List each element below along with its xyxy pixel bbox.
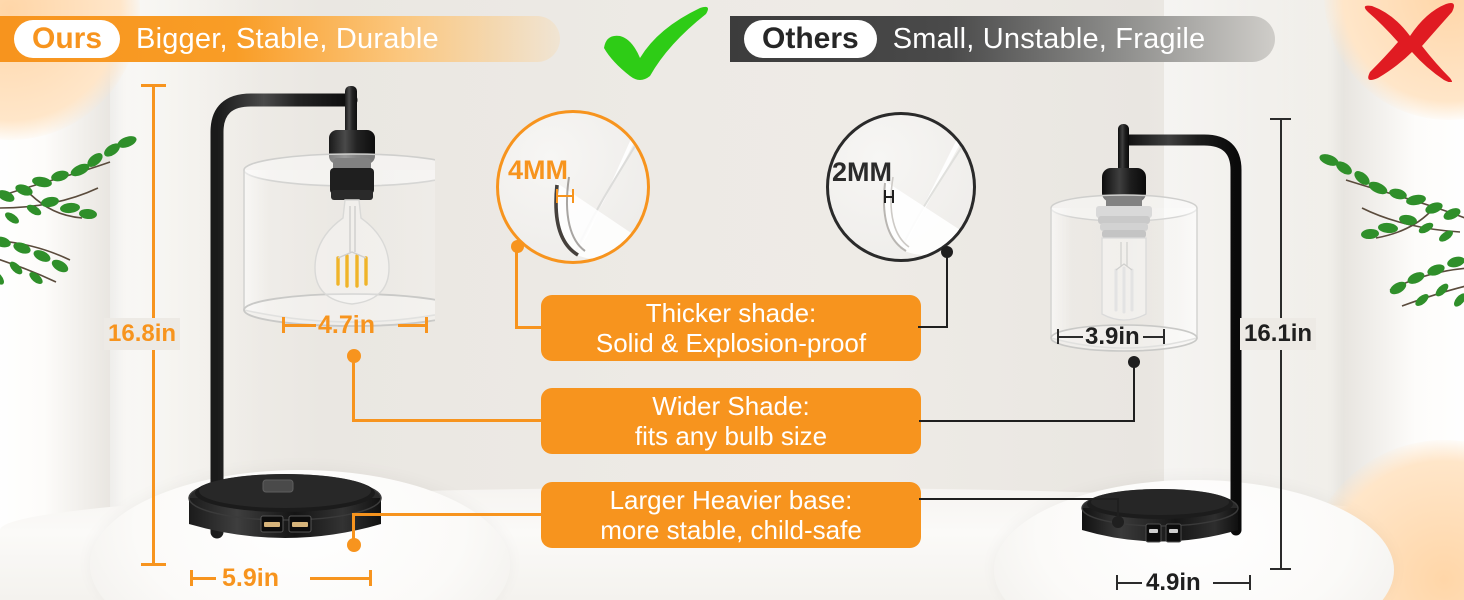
callout-thicker-shade[interactable]: Thicker shade: Solid & Explosion-proof: [541, 295, 921, 361]
others-height-cap-bottom: [1270, 568, 1291, 570]
others-connector-h-shade: [919, 420, 1135, 422]
others-shade-width-label: 3.9in: [1085, 323, 1140, 351]
callout-wider-shade[interactable]: Wider Shade: fits any bulb size: [541, 388, 921, 454]
ours-shade-width-cap-left: [282, 317, 285, 333]
ours-base-width-label: 5.9in: [222, 564, 279, 593]
ours-connector-v-base: [352, 513, 355, 545]
others-base-width-cap-left: [1116, 575, 1118, 590]
ours-height-cap-bottom: [141, 563, 166, 566]
ours-thickness-tick-right: [572, 189, 574, 203]
others-thickness-tick-right: [892, 190, 894, 203]
others-shade-width-line-left: [1057, 336, 1083, 338]
callout-2-line1: Wider Shade:: [551, 391, 911, 421]
others-shade-width-line-right: [1143, 336, 1165, 338]
callout-larger-base[interactable]: Larger Heavier base: more stable, child-…: [541, 482, 921, 548]
others-base-width-label: 4.9in: [1146, 569, 1201, 597]
callout-1-line2: Solid & Explosion-proof: [551, 328, 911, 358]
ours-banner-text: Bigger, Stable, Durable: [136, 23, 439, 56]
callout-3-line2: more stable, child-safe: [551, 515, 911, 545]
others-base-width-line-left: [1116, 582, 1142, 584]
red-cross-icon: [1356, 2, 1460, 82]
others-shade-width-cap-left: [1057, 329, 1059, 344]
others-thickness-label: 2MM: [832, 157, 892, 188]
others-height-label: 16.1in: [1240, 318, 1316, 350]
ours-base-width-cap-left: [190, 570, 193, 586]
ours-lamp: [175, 72, 435, 562]
ours-thickness-label: 4MM: [508, 155, 568, 186]
comparison-infographic: Ours Bigger, Stable, Durable Others Smal…: [0, 0, 1464, 600]
others-height-cap-top: [1270, 118, 1291, 120]
ours-base-width-cap-right: [369, 570, 372, 586]
callout-3-line1: Larger Heavier base:: [551, 485, 911, 515]
ours-shade-width-label: 4.7in: [318, 311, 375, 340]
others-connector-h-magnifier: [918, 326, 948, 328]
green-check-icon: [596, 6, 716, 80]
ours-shade-width-line-right: [398, 324, 428, 327]
ours-banner: Ours Bigger, Stable, Durable: [0, 16, 560, 62]
ours-shade-width-line-left: [282, 324, 316, 327]
others-banner-text: Small, Unstable, Fragile: [893, 23, 1206, 56]
others-connector-v-shade: [1133, 362, 1135, 422]
others-shade-width-cap-right: [1163, 329, 1165, 344]
ours-shade-width-cap-right: [425, 317, 428, 333]
ours-pill: Ours: [14, 20, 120, 58]
others-connector-h-base: [919, 498, 1119, 500]
ours-thickness-tick-left: [556, 189, 558, 203]
ours-base-width-line-left: [190, 577, 216, 580]
callout-2-line2: fits any bulb size: [551, 421, 911, 451]
ours-height-cap-top: [141, 84, 166, 87]
others-connector-v-base: [1117, 498, 1119, 522]
ours-connector-v-shade: [352, 356, 355, 422]
others-base-width-line-right: [1213, 582, 1251, 584]
others-base-width-cap-right: [1249, 575, 1251, 590]
ours-connector-h-shade: [352, 419, 544, 422]
ours-connector-v-magnifier: [515, 246, 518, 328]
ours-base-width-line-right: [310, 577, 372, 580]
callout-1-line1: Thicker shade:: [551, 298, 911, 328]
others-banner: Others Small, Unstable, Fragile: [730, 16, 1275, 62]
others-thickness-tick-left: [884, 190, 886, 203]
ours-connector-h-magnifier: [515, 326, 545, 329]
ours-height-label: 16.8in: [104, 318, 180, 350]
others-connector-v-magnifier: [946, 252, 948, 328]
ours-connector-h-base: [352, 513, 544, 516]
others-pill: Others: [744, 20, 877, 58]
